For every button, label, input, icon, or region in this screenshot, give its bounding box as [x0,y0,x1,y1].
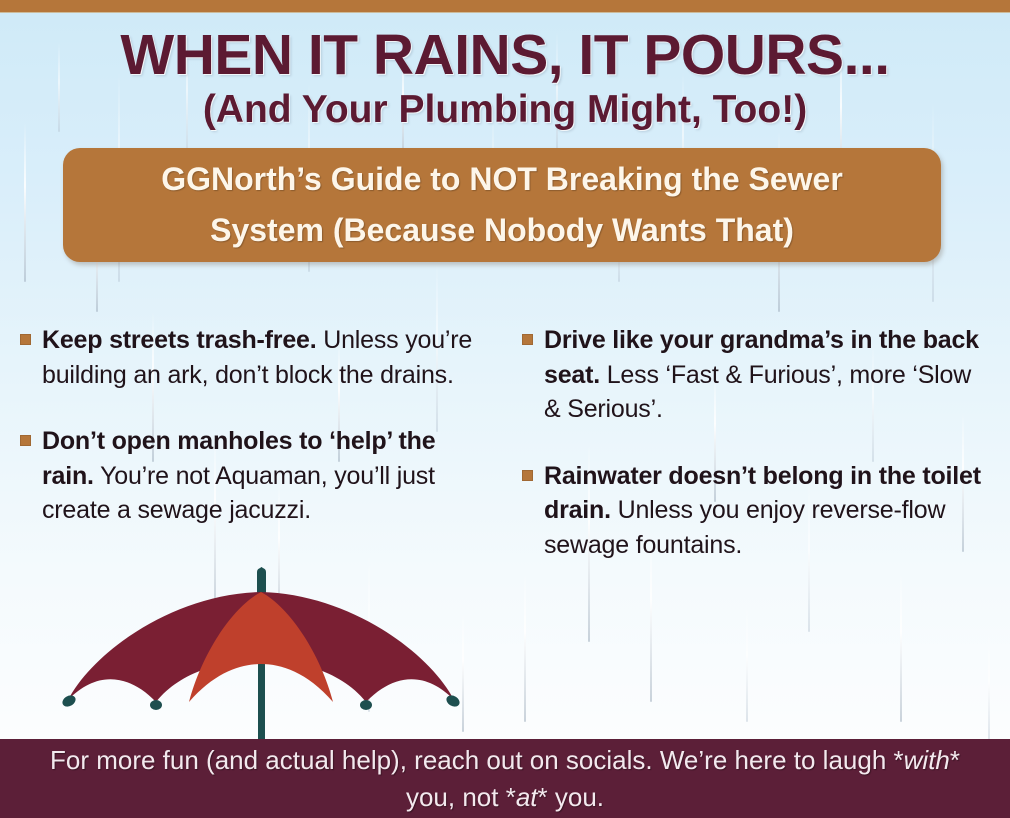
infographic-poster: WHEN IT RAINS, IT POURS... (And Your Plu… [0,0,1010,818]
tip-lead: Keep streets trash-free. [42,326,317,354]
umbrella-tip-left [60,693,77,709]
footer-part-3: * you. [538,782,605,812]
guide-banner-line-1: GGNorth’s Guide to NOT Breaking the Sewe… [161,161,843,197]
square-bullet-icon [20,435,31,446]
umbrella-tip-right-mid [360,700,372,710]
footer-band: For more fun (and actual help), reach ou… [0,739,1010,818]
tip-text: Don’t open manholes to ‘help’ the rain. … [42,424,488,528]
umbrella-illustration [55,560,475,745]
header-block: WHEN IT RAINS, IT POURS... (And Your Plu… [0,26,1010,131]
tip-item: Keep streets trash-free. Unless you’re b… [18,323,488,392]
square-bullet-icon [20,334,31,345]
page-subtitle: (And Your Plumbing Might, Too!) [0,90,1010,131]
footer-emphasis-with: with [904,745,950,775]
page-title: WHEN IT RAINS, IT POURS... [0,26,1010,84]
guide-banner: GGNorth’s Guide to NOT Breaking the Sewe… [63,148,941,262]
umbrella-tip-right [444,693,461,709]
guide-banner-text: GGNorth’s Guide to NOT Breaking the Sewe… [82,154,922,256]
tip-item: Don’t open manholes to ‘help’ the rain. … [18,424,488,528]
square-bullet-icon [522,470,533,481]
footer-emphasis-at: at [516,782,538,812]
tips-column-right: Drive like your grandma’s in the back se… [520,298,990,594]
tip-item: Drive like your grandma’s in the back se… [520,323,990,427]
umbrella-finial-cap [257,568,266,596]
footer-text: For more fun (and actual help), reach ou… [25,742,985,816]
square-bullet-icon [522,334,533,345]
footer-part-1: For more fun (and actual help), reach ou… [50,745,904,775]
tip-text: Keep streets trash-free. Unless you’re b… [42,323,488,392]
tip-text: Rainwater doesn’t belong in the toilet d… [544,459,990,563]
tip-rest: Less ‘Fast & Furious’, more ‘Slow & Seri… [544,361,971,424]
tips-column-left: Keep streets trash-free. Unless you’re b… [18,298,488,560]
tip-item: Rainwater doesn’t belong in the toilet d… [520,459,990,563]
umbrella-tip-left-mid [150,700,162,710]
guide-banner-line-2: System (Because Nobody Wants That) [210,212,794,248]
tip-rest: You’re not Aquaman, you’ll just create a… [42,462,435,525]
tip-text: Drive like your grandma’s in the back se… [544,323,990,427]
top-accent-bar [0,0,1010,12]
